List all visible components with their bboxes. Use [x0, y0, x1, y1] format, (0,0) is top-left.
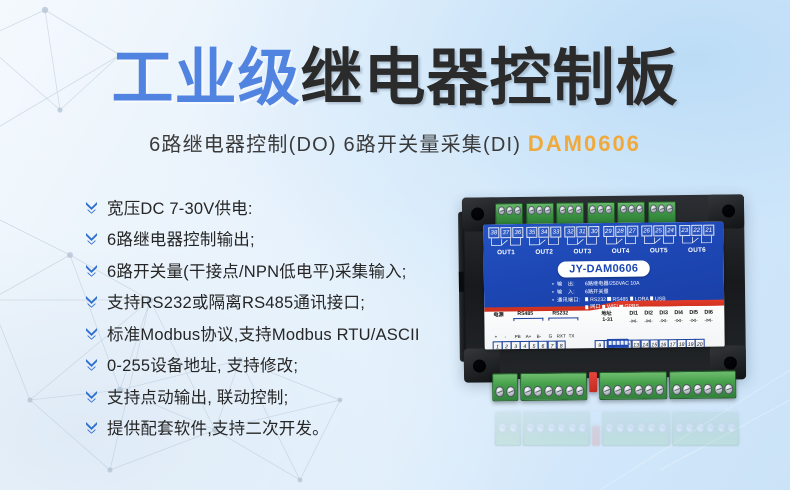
- double-chevron-down-icon: [80, 263, 102, 277]
- port-option: LORA: [635, 296, 649, 302]
- di-label: DI4: [674, 310, 683, 316]
- checkbox-icon: [585, 305, 588, 308]
- model-name: JY-DAM0606: [569, 263, 638, 276]
- double-chevron-down-icon: [80, 420, 102, 434]
- device-front-label: 38 37 36 OUT1 35 34 33: [483, 222, 725, 350]
- terminal-number: 38: [488, 227, 499, 238]
- relay-control-board: 38 37 36 OUT1 35 34 33: [462, 194, 746, 382]
- di-label: DI5: [689, 310, 698, 316]
- mounting-hole-icon: [724, 356, 737, 369]
- feature-text: 标准Modbus协议,支持Modbus RTU/ASCII: [102, 321, 420, 345]
- page-title: 工业级继电器控制板: [0, 48, 790, 110]
- double-chevron-down-icon: [80, 200, 102, 214]
- output-label: OUT2: [527, 249, 562, 256]
- power-label: 电源: [493, 311, 503, 318]
- output-label: OUT1: [489, 249, 524, 256]
- checkbox-icon: [602, 305, 605, 308]
- subtitle-text: 6路继电器控制(DO) 6路开关量采集(DI): [149, 134, 521, 156]
- feature-list: 宽压DC 7-30V供电: 6路继电器控制输出; 6路开关量(干接点/NPN低电…: [80, 192, 460, 444]
- double-chevron-down-icon: [80, 357, 102, 371]
- terminal-number: 21: [703, 225, 714, 236]
- subtitle: 6路继电器控制(DO) 6路开关量采集(DI) DAM0606: [0, 128, 790, 157]
- spec-value: 6路开关量: [585, 287, 722, 295]
- feature-text: 0-255设备地址, 支持修改;: [102, 352, 298, 376]
- output-terminal-map: 38 37 36 OUT1 35 34 33: [488, 225, 718, 257]
- pin: 8: [556, 340, 566, 349]
- device-reflection: [467, 388, 745, 448]
- bottom-terminal-legend: 电源 RS485 RS232 地址 1-31 DI1 DI2 DI3 DI4 D…: [488, 309, 720, 327]
- feature-text: 6路开关量(干接点/NPN低电平)采集输入;: [102, 258, 407, 282]
- spec-key: 输 出:: [557, 281, 585, 288]
- feature-text: 提供配套软件,支持二次开发。: [102, 415, 329, 439]
- output-group: 26 25 24 OUT5: [641, 225, 676, 254]
- feature-item: 6路开关量(干接点/NPN低电平)采集输入;: [80, 255, 460, 284]
- rs485-label: RS485: [517, 311, 533, 317]
- terminal-number: 28: [615, 226, 626, 237]
- output-group: 35 34 33 OUT2: [526, 227, 561, 256]
- terminal-number: 22: [691, 225, 702, 236]
- terminal-number: 31: [577, 226, 588, 237]
- feature-text: 宽压DC 7-30V供电:: [102, 195, 253, 219]
- feature-item: 宽压DC 7-30V供电:: [80, 192, 460, 221]
- terminal-number: 29: [603, 226, 614, 237]
- double-chevron-down-icon: [80, 326, 102, 340]
- feature-item: 6路继电器控制输出;: [80, 224, 460, 253]
- output-label: OUT5: [641, 247, 676, 254]
- relay-contact-symbol-icon: [488, 238, 523, 249]
- feature-item: 标准Modbus协议,支持Modbus RTU/ASCII: [80, 318, 460, 347]
- output-group: 29 28 27 OUT4: [603, 226, 638, 255]
- address-range: 1-31: [602, 317, 612, 323]
- relay-contact-symbol-icon: [679, 236, 714, 247]
- terminal-number: 27: [627, 226, 638, 237]
- terminal-number: 36: [512, 227, 523, 238]
- double-chevron-down-icon: [80, 231, 102, 245]
- feature-item: 0-255设备地址, 支持修改;: [80, 350, 460, 379]
- relay-contact-symbol-icon: [603, 237, 638, 248]
- checkbox-icon: [630, 297, 633, 300]
- relay-contact-symbol-icon: [527, 238, 562, 249]
- feature-item: 支持点动输出, 联动控制;: [80, 381, 460, 410]
- checkbox-icon: [619, 305, 622, 308]
- double-chevron-down-icon: [80, 389, 102, 403]
- port-option: RS232: [590, 297, 606, 303]
- output-group: 23 22 21 OUT6: [679, 225, 714, 254]
- output-group: 38 37 36 OUT1: [488, 227, 523, 256]
- terminal-number: 24: [665, 225, 676, 236]
- port-option: RS485: [612, 296, 628, 302]
- feature-text: 6路继电器控制输出;: [102, 226, 255, 250]
- spec-key: 输 入:: [557, 289, 585, 296]
- feature-text: 支持RS232或隔离RS485通讯接口;: [102, 289, 365, 313]
- terminal-number: 30: [589, 226, 600, 237]
- relay-contact-symbol-icon: [641, 236, 676, 247]
- terminal-number: 32: [565, 226, 576, 237]
- title-main: 继电器控制板: [301, 44, 679, 113]
- checkbox-icon: [650, 297, 653, 300]
- product-device-image: 38 37 36 OUT1 35 34 33: [455, 186, 755, 451]
- rs232-label: RS232: [552, 310, 568, 316]
- feature-item: 支持RS232或隔离RS485通讯接口;: [80, 287, 460, 316]
- model-badge: JY-DAM0606: [558, 260, 650, 277]
- mounting-hole-icon: [473, 359, 486, 372]
- terminal-number: 23: [679, 225, 690, 236]
- terminal-number: 26: [641, 225, 652, 236]
- spec-value: 6路继电器/250VAC 10A: [585, 280, 722, 288]
- checkbox-icon: [607, 297, 610, 300]
- di-label: DI3: [659, 310, 668, 316]
- terminal-number: 35: [526, 227, 537, 238]
- terminal-number: 33: [550, 227, 561, 238]
- terminal-number: 25: [653, 225, 664, 236]
- di-label: DI2: [644, 310, 653, 316]
- product-banner: 工业级继电器控制板 6路继电器控制(DO) 6路开关量采集(DI) DAM060…: [0, 0, 790, 490]
- double-chevron-down-icon: [80, 294, 102, 308]
- di-label: DI1: [629, 311, 638, 317]
- subtitle-model: DAM0606: [528, 131, 641, 156]
- mounting-hole-icon: [722, 204, 735, 217]
- terminal-number: 34: [538, 227, 549, 238]
- output-group: 32 31 30 OUT3: [565, 226, 600, 255]
- output-label: OUT3: [565, 248, 600, 255]
- port-option: USB: [655, 296, 666, 302]
- spec-key: 通讯端口:: [557, 297, 585, 304]
- feature-item: 提供配套软件,支持二次开发。: [80, 413, 460, 442]
- relay-contact-symbol-icon: [565, 237, 600, 248]
- output-label: OUT6: [679, 247, 714, 254]
- spec-list: • 输 出: 6路继电器/250VAC 10A • 输 入: 6路开关量 • 通…: [552, 280, 722, 313]
- checkbox-icon: [585, 298, 588, 301]
- feature-text: 支持点动输出, 联动控制;: [102, 384, 288, 408]
- mounting-hole-icon: [471, 207, 484, 220]
- output-label: OUT4: [603, 248, 638, 255]
- terminal-number: 37: [500, 227, 511, 238]
- title-highlight: 工业级: [111, 44, 300, 113]
- di-label: DI6: [704, 310, 713, 316]
